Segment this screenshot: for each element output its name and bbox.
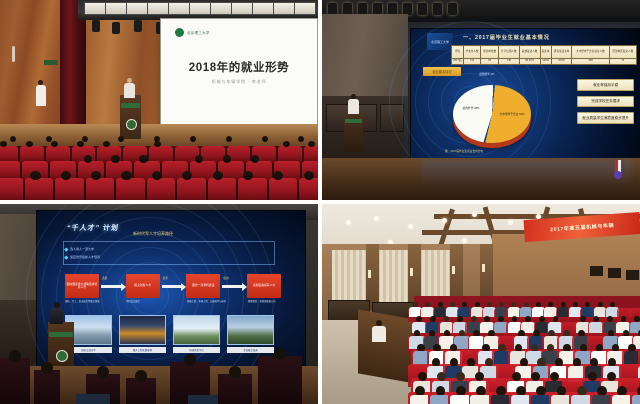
arrow-shaft [101,285,121,288]
foreground-person [0,358,30,404]
spotlight-icon [448,3,457,15]
podium-band [49,332,73,337]
downlight-icon [462,238,467,243]
thumbnail-caption: 企业联合培养 [227,347,274,353]
seat [177,178,206,200]
table-cell: 100% [551,59,572,65]
wall-sconce-icon [368,270,371,278]
audience-head [298,136,304,142]
flow-arrow-icon: 使用 [220,281,247,291]
logo-mark-icon [175,28,184,37]
wall-sconce-icon [452,266,455,274]
table-header-cell: 升学出国人数 [498,46,519,59]
ceiling-lamp-icon [210,2,232,15]
front-row-person [372,320,386,342]
stage-light-icon [134,20,142,32]
thumbnail-image [227,315,274,345]
seat [147,178,176,200]
audience-person [630,386,640,404]
table-header-cell: 签约单位数 [481,46,499,59]
presenter-body [348,99,359,114]
table-header-cell: 学院 [452,46,464,59]
downlight-icon [346,220,351,225]
audience-head [30,171,40,180]
slide2-side-tag: 就业基本情况 [423,67,461,76]
podium [344,112,363,152]
curtain [374,250,408,308]
audience-seating [0,146,318,200]
audience-head [190,136,196,142]
pie-label-overseas: 出国留学 4% [479,73,494,76]
thumbnail: 科研实验平台 [173,315,220,353]
wall-vent [608,268,621,278]
flow-arrow-icon: 培养 [160,281,187,291]
downlight-icon [374,216,379,221]
arrow-shaft [222,285,242,288]
seat [25,178,54,200]
ceiling-lamp-icon [294,2,316,15]
host-body [36,85,46,106]
flow-step-box: 服务一流学科建设 [186,274,220,298]
foreground-person [218,374,252,404]
table-cell: 99.87% [519,59,540,65]
flow-step-box: 拔尖创新人才 [126,274,160,298]
flow-step-caption: 学科交叉融合 [126,301,166,304]
speaker-body [50,308,63,324]
flow-step-box: 高端装备领军人才 [247,274,281,298]
pie-label-domestic: 境内升学 48% [459,107,483,110]
thumbnail-image [119,315,166,345]
audience-head [154,136,160,142]
flow-arrow-icon: 选拔 [99,281,126,291]
panel-top-right: 北京理工大学 一、2017届毕业生就业基本情况 就业基本情况 学院毕业生人数签约… [322,0,640,200]
employment-pie-chart: 出国留学 4% 境内升学 48% 大中型骨干企业 52% [453,85,531,147]
ceiling-lamp-icon [252,2,274,15]
employment-stats-table: 学院毕业生人数签约单位数升学出国人数其他就业人数就业率研究生就业率大中型骨干企业… [451,45,637,65]
thumbnail-strip: 国际交流访学 重大工程实践基地 科研实验平台 企业联合培养 [65,315,281,353]
downlight-icon [408,224,413,229]
bullet-item: 适应世界最新人才培养 [70,255,100,259]
arrow-shaft [162,285,182,288]
audience-head [121,171,131,180]
audience-crowd [414,296,640,404]
logo-text: 北京理工大学 [187,30,210,35]
seat [238,178,267,200]
university-logo: 北京理工大学 [175,28,210,37]
slide-title: 2018年的就业形势 [161,59,317,75]
laptop-screen [188,395,218,404]
slide-logo: 北京理工大学 [427,33,453,50]
person-body [632,395,640,404]
wall-sconce-icon [482,264,485,272]
audience-head [139,155,148,163]
table-header-cell: 其他就业人数 [519,46,540,59]
speaker-person [124,78,135,98]
pie-chart-caption: 图：2017届毕业生就业去向分布 [445,149,483,153]
seat [86,178,115,200]
audience-head [251,155,260,163]
downlight-icon [442,218,447,223]
flow-step-caption: 国防、军工、航天航空等重点领域 [65,301,105,304]
table-cell: 2017届 [452,59,464,65]
thumbnail: 企业联合培养 [227,315,274,353]
audience-head [111,155,120,163]
seat [269,178,298,200]
slide3-subtitle: 新时代军人才培养路径 [133,231,173,237]
led-display-screen: 北京理工大学 一、2017届毕业生就业基本情况 就业基本情况 学院毕业生人数签约… [410,28,640,160]
table-body: 2017届7412574099.87%100%100%33876 [452,59,637,65]
callout-list: 就业率保持平稳 完成学校任务要求 就业质量学生满意度稳步提升 [577,79,634,124]
callout-item: 就业质量学生满意度稳步提升 [577,112,634,124]
podium [120,95,141,139]
wall-vent [626,270,639,280]
seat-row [0,178,318,200]
table-header-cell: 就业率 [540,46,551,59]
presenter-person [348,94,359,114]
podium-band [345,119,362,123]
projection-screen: 北京理工大学 2018年的就业形势 机械与车辆学院 · 李老师 [160,18,318,125]
host-person [36,80,46,106]
wall-sconce-icon [410,268,413,276]
wall-medal-logo-icon [610,160,626,182]
floor-reflection [422,160,632,190]
audience-head [213,171,223,180]
foreground-head [41,362,53,374]
foreground-head [274,348,286,360]
audience-head [82,136,88,142]
table-header-cell: 西部地区就业人数 [609,46,636,59]
slide-subtitle: 机械与车辆学院 · 李老师 [161,79,317,85]
table-cell: 100% [540,59,551,65]
panel-top-left: 北京理工大学 2018年的就业形势 机械与车辆学院 · 李老师 [0,0,318,200]
foreground-head [135,370,147,382]
table-cell: 338 [572,59,609,65]
table-header-cell: 研究生就业率 [551,46,572,59]
banner-text: 2017年度五届机械与车辆 [550,221,614,232]
ceiling-lamp-icon [231,2,253,15]
panel-bottom-right: 2017年度五届机械与车辆 [322,204,640,404]
exit-sign-icon [44,60,58,65]
projection-slide-blue: “千人才” 计划 新时代军人才培养路径 选人用人一流大学 适应世界最新人才培养 … [36,210,306,372]
table-header-cell: 毕业生人数 [463,46,481,59]
foreground-person [34,370,60,404]
flow-step-box: 面向国家重大战略需求培养人才 [65,274,99,298]
flow-arrow-label: 使用 [223,276,228,280]
table-cell: 741 [463,59,481,65]
ceiling-lamp-icon [189,2,211,15]
person-body [372,326,386,342]
wood-wall-left [0,0,64,132]
thumbnail-image [173,315,220,345]
flow-arrow-label: 培养 [163,276,168,280]
spotlight-icon [433,3,442,15]
podium-emblem-icon [56,350,68,362]
audience-head [262,136,268,142]
audience-head [118,136,124,142]
flow-arrow-label: 选拔 [102,276,107,280]
seat [0,178,23,200]
callout-item: 完成学校任务要求 [577,96,634,108]
audience-head [10,136,16,142]
thumbnail-caption: 科研实验平台 [173,347,220,353]
bullet-item: 选人用人一流大学 [70,247,94,251]
seat [208,178,237,200]
slide3-title: “千人才” 计划 [66,223,119,233]
foreground-person [258,356,302,404]
foreground-head [9,350,21,362]
table-cell: 76 [609,59,636,65]
panel-bottom-left: “千人才” 计划 新时代军人才培养路径 选人用人一流大学 适应世界最新人才培养 … [0,204,318,404]
table-cell: 740 [498,59,519,65]
seat [299,178,318,200]
downlight-icon [508,220,513,225]
foreground-head [184,354,196,366]
flow-step-caption: 智能制造、新能源装备方向 [248,301,288,304]
downlight-icon [472,212,477,217]
arrow-tip [121,283,126,291]
audience-head [226,136,232,142]
thumbnail: 重大工程实践基地 [119,315,166,353]
process-flow: 面向国家重大战略需求培养人才选拔拔尖创新人才培养服务一流学科建设使用高端装备领军… [65,273,281,299]
ceiling-lamp-icon [126,2,148,15]
ceiling-lamp-icon [273,2,295,15]
ceiling-lamp-icon [168,2,190,15]
wall-vent [590,266,603,276]
laptop-screen [76,394,110,404]
audience-head [84,155,93,163]
foreground-head [229,366,241,378]
callout-item: 就业率保持平稳 [577,79,634,91]
thumbnail-caption: 重大工程实践基地 [119,347,166,353]
slide2-title: 一、2017届毕业生就业基本情况 [463,34,550,41]
audience-head [46,136,52,142]
ceiling-lamp-icon [147,2,169,15]
speaker-person [50,302,63,324]
podium [48,322,74,368]
pie-label-enterprise: 大中型骨干企业 52% [499,113,525,116]
spotlight-icon [418,3,427,15]
speaker-body [124,83,135,98]
table-header-row: 学院毕业生人数签约单位数升学出国人数其他就业人数就业率研究生就业率大中型骨干企业… [452,46,637,59]
arrow-tip [242,283,247,291]
arrow-tip [181,283,186,291]
podium-emblem-icon [126,119,137,130]
ceiling-lamp-icon [84,2,106,15]
table-cell: 25 [481,59,499,65]
bullet-box: 选人用人一流大学 适应世界最新人才培养 [63,241,275,265]
stage-light-icon [112,22,120,34]
flow-step-caption: 机械工程、车辆工程、兵器科学与技术 [187,301,227,304]
stage-light-icon [92,20,100,32]
table-row: 2017届7412574099.87%100%100%33876 [452,59,637,65]
table-header-cell: 大中型骨干企业就业人数 [572,46,609,59]
audience-head [223,155,232,163]
seat [55,178,84,200]
photo-collage: 北京理工大学 2018年的就业形势 机械与车辆学院 · 李老师 [0,0,640,404]
stage-curtain [60,0,88,140]
medal-disc [614,171,622,179]
podium-band [121,103,140,108]
foreground-head [97,366,109,378]
ceiling-lamp-icon [105,2,127,15]
audience-head [283,141,290,147]
seat [116,178,145,200]
